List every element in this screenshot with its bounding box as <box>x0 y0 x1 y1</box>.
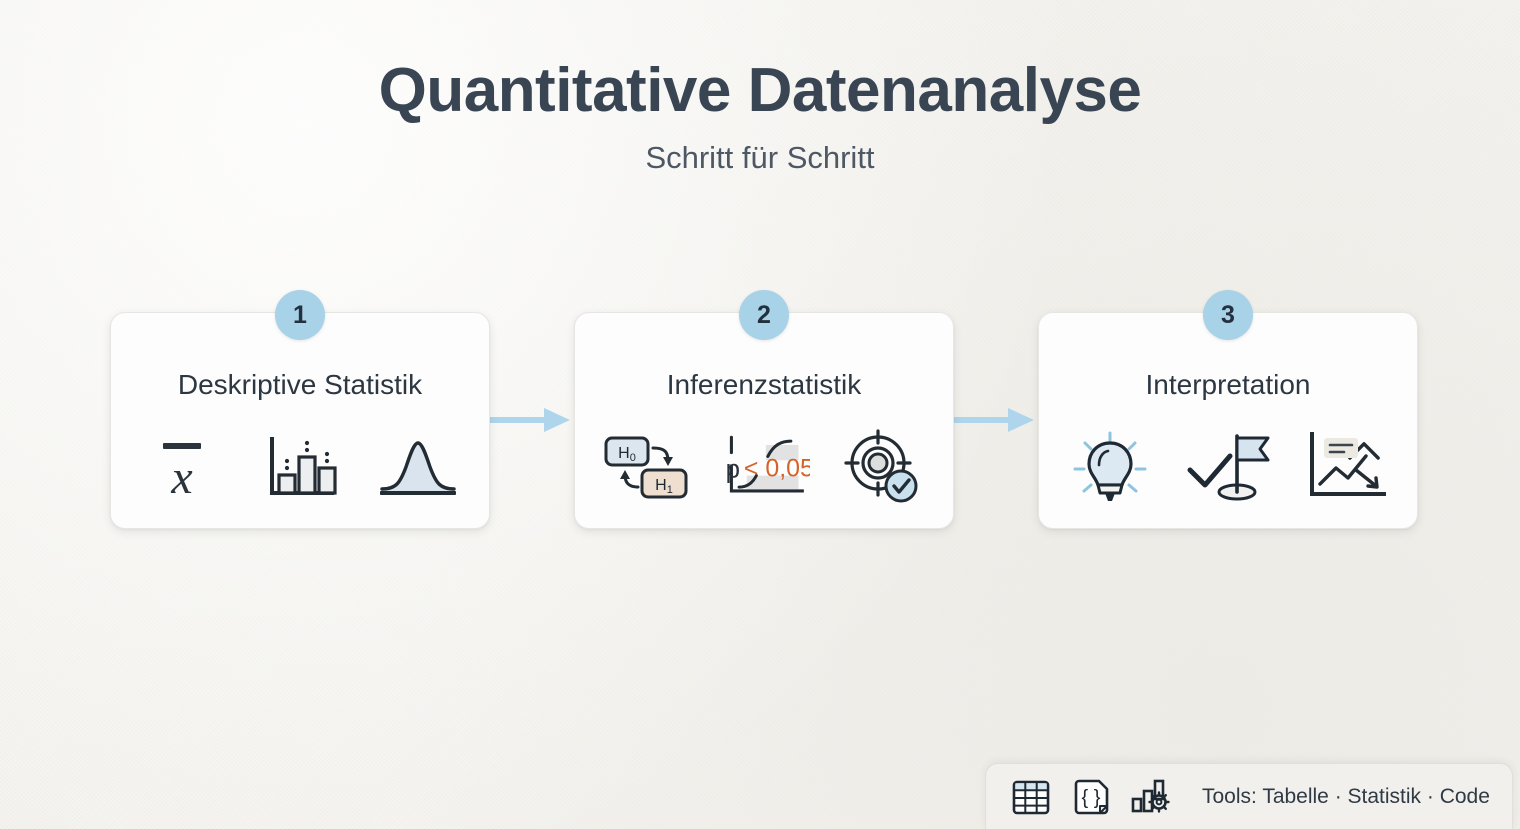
chart-gear-icon[interactable] <box>1128 774 1174 820</box>
step-card-3[interactable]: 3 Interpretation <box>1038 312 1418 529</box>
lightbulb-idea-icon <box>1064 426 1156 508</box>
svg-text:{ }: { } <box>1082 787 1101 809</box>
page-title: Quantitative Datenanalyse <box>0 58 1520 123</box>
svg-text:< 0,05: < 0,05 <box>744 455 810 483</box>
process-flow: 1 Deskriptive Statistik x <box>110 312 1410 542</box>
trend-chart-arrows-icon <box>1300 426 1392 508</box>
normal-distribution-curve-icon <box>372 426 464 508</box>
step-title-2: Inferenzstatistik <box>575 369 953 401</box>
step-card-1[interactable]: 1 Deskriptive Statistik x <box>110 312 490 529</box>
step-2-icon-row: H0 H1 <box>575 421 953 513</box>
step-3-icon-row <box>1039 421 1417 513</box>
check-flag-goal-icon <box>1182 426 1274 508</box>
step-card-2[interactable]: 2 Inferenzstatistik H0 H1 <box>574 312 954 529</box>
toolbar-label: Tools: Tabelle · Statistik · Code <box>1202 785 1490 809</box>
code-braces-icon[interactable]: { } <box>1068 774 1114 820</box>
tools-toolbar[interactable]: { } <box>985 763 1513 829</box>
table-icon[interactable] <box>1008 774 1054 820</box>
svg-text:p: p <box>726 456 740 484</box>
step-badge-2: 2 <box>739 290 789 340</box>
hypothesis-h0-h1-icon: H0 H1 <box>600 426 692 508</box>
x-bar-mean-icon: x <box>136 426 228 508</box>
bar-chart-error-bars-icon <box>254 426 346 508</box>
step-title-3: Interpretation <box>1039 369 1417 401</box>
header: Quantitative Datenanalyse Schritt für Sc… <box>0 58 1520 176</box>
page-subtitle: Schritt für Schritt <box>0 140 1520 176</box>
svg-text:x: x <box>170 451 192 503</box>
p-value-icon: p < 0,05 <box>718 426 810 508</box>
step-title-1: Deskriptive Statistik <box>111 369 489 401</box>
step-badge-3: 3 <box>1203 290 1253 340</box>
target-check-icon <box>836 426 928 508</box>
step-1-icon-row: x <box>111 421 489 513</box>
arrow-step-2-to-3 <box>954 312 1038 527</box>
step-badge-1: 1 <box>275 290 325 340</box>
slide-canvas: Quantitative Datenanalyse Schritt für Sc… <box>0 0 1520 829</box>
arrow-step-1-to-2 <box>490 312 574 527</box>
